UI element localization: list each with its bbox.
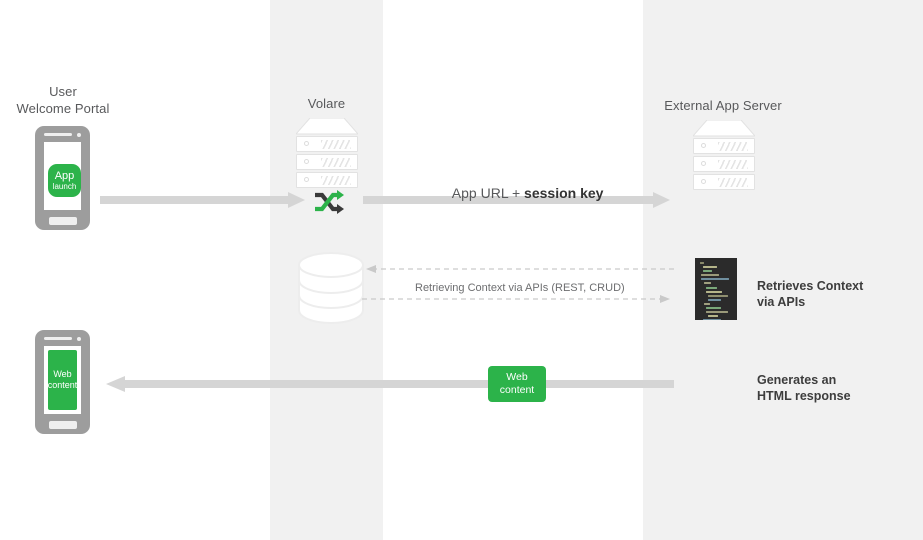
phone-screen: Web content	[44, 346, 81, 414]
server-vent-icon	[321, 140, 351, 149]
database-cylinder-icon	[298, 252, 364, 324]
server-vent-icon	[718, 160, 748, 169]
user-portal-label-line1: User	[0, 83, 126, 100]
server-unit-1	[693, 138, 755, 154]
phone-speaker-icon	[44, 133, 72, 136]
phone-home-button-icon	[49, 217, 77, 225]
server-vent-icon	[321, 176, 351, 185]
volare-label: Volare	[264, 95, 389, 112]
volare-server-stack-icon	[296, 118, 358, 186]
arrow-context-request-dashed	[362, 264, 674, 274]
retrieves-context-annotation-line1: Retrieves Context	[757, 278, 863, 294]
phone-home-button-icon	[49, 421, 77, 429]
server-led-icon	[304, 177, 309, 182]
web-content-badge-line2: content	[500, 384, 534, 397]
app-url-flow-label: App URL + session key	[437, 169, 603, 217]
external-server-stack-icon	[693, 120, 755, 188]
web-content-line1: Web	[53, 369, 71, 380]
server-led-icon	[701, 179, 706, 184]
app-url-flow-label-normal: App URL +	[452, 185, 524, 201]
web-content-screen: Web content	[48, 350, 77, 410]
app-launch-tile[interactable]: App launch	[48, 164, 81, 197]
app-url-flow-label-bold: session key	[524, 185, 603, 201]
web-content-badge: Web content	[488, 366, 546, 402]
arrow-app-launch-to-volare	[100, 191, 305, 209]
server-top-icon	[693, 120, 755, 137]
generates-html-annotation-line1: Generates an	[757, 372, 836, 388]
server-led-icon	[701, 161, 706, 166]
web-content-badge-line1: Web	[506, 371, 527, 384]
retrieves-context-annotation-line2: via APIs	[757, 294, 805, 310]
phone-screen: App launch	[44, 142, 81, 210]
server-unit-1	[296, 136, 358, 152]
app-tile-line2: launch	[53, 182, 77, 191]
server-unit-2	[693, 156, 755, 172]
arrow-html-response-to-user	[106, 375, 674, 393]
user-phone-bottom[interactable]: Web content	[35, 330, 90, 434]
server-led-icon	[701, 143, 706, 148]
shuffle-icon	[313, 190, 345, 216]
external-app-server-label: External App Server	[640, 97, 806, 114]
web-content-line2: content	[48, 380, 78, 391]
server-unit-2	[296, 154, 358, 170]
server-vent-icon	[718, 142, 748, 151]
server-unit-3	[693, 174, 755, 190]
phone-camera-icon	[77, 337, 81, 341]
user-portal-label-line2: Welcome Portal	[0, 100, 126, 117]
swimlane-band-external	[643, 0, 923, 540]
arrow-context-response-dashed	[362, 294, 674, 304]
diagram-canvas: User Welcome Portal App launch Volare	[0, 0, 923, 540]
server-led-icon	[304, 141, 309, 146]
server-top-icon	[296, 118, 358, 135]
phone-speaker-icon	[44, 337, 72, 340]
code-block-icon	[695, 258, 737, 320]
retrieving-context-label: Retrieving Context via APIs (REST, CRUD)	[411, 282, 629, 294]
server-vent-icon	[321, 158, 351, 167]
server-led-icon	[304, 159, 309, 164]
generates-html-annotation-line2: HTML response	[757, 388, 851, 404]
server-vent-icon	[718, 178, 748, 187]
app-tile-line1: App	[55, 170, 75, 183]
phone-camera-icon	[77, 133, 81, 137]
user-phone-top[interactable]: App launch	[35, 126, 90, 230]
server-unit-3	[296, 172, 358, 188]
